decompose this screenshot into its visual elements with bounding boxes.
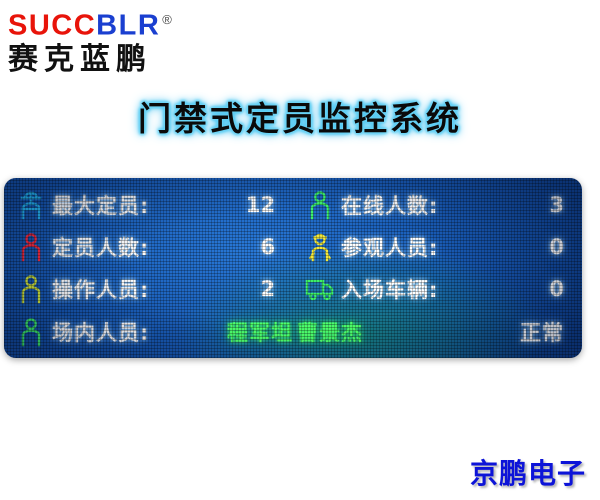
led-row-onsite-personnel: 场内人员: 程军坦 曹景杰 正常 [4,310,582,354]
led-label: 操作人员: [52,274,241,304]
logo-word-blr: BLR [96,10,160,42]
led-value: 2 [241,277,293,301]
led-onsite-names-and-status: 曹景杰 正常 [293,317,582,347]
led-label: 最大定员: [52,190,241,220]
led-value: 3 [530,193,582,217]
person-icon [4,274,52,304]
onsite-person-name: 曹景杰 [293,317,363,347]
logo-wordmark: SUCCBLR® [8,4,208,42]
truck-icon [293,276,341,302]
led-label: 在线人数: [341,190,530,220]
logo-word-succ: SUCC [8,10,96,42]
led-value: 0 [530,235,582,259]
led-label: 定员人数: [52,232,241,262]
footer-brand: 京鹏电子 [470,452,586,492]
person-icon [4,317,52,347]
person-cap-icon [4,190,52,220]
led-value: 0 [530,277,582,301]
onsite-person-name: 程军坦 [223,317,293,347]
company-logo: SUCCBLR® 赛克蓝鹏 [8,4,208,76]
led-label: 场内人员: [52,317,223,347]
led-row: 定员人数: 6 参观人员: 0 [4,226,582,268]
led-field-max-capacity: 最大定员: 12 [4,190,293,220]
led-field-online-count: 在线人数: 3 [293,190,582,220]
led-row: 操作人员: 2 入场车辆: 0 [4,268,582,310]
person-cap-icon [293,232,341,262]
led-field-operator-count: 操作人员: 2 [4,274,293,304]
led-field-vehicle-count: 入场车辆: 0 [293,274,582,304]
led-field-onsite-personnel: 场内人员: 程军坦 [4,317,293,347]
person-icon [293,190,341,220]
led-field-visitor-count: 参观人员: 0 [293,232,582,262]
led-label: 参观人员: [341,232,530,262]
led-value: 12 [241,193,293,217]
led-value: 6 [241,235,293,259]
registered-trademark-icon: ® [162,12,172,27]
led-field-assigned-count: 定员人数: 6 [4,232,293,262]
person-icon [4,232,52,262]
logo-chinese-name: 赛克蓝鹏 [8,43,208,77]
led-row: 最大定员: 12 在线人数: 3 [4,184,582,226]
onsite-names-group: 曹景杰 [293,317,520,347]
status-badge: 正常 [520,317,582,347]
page-title: 门禁式定员监控系统 [0,92,600,140]
led-display-panel: 最大定员: 12 在线人数: 3 [4,178,582,358]
led-label: 入场车辆: [341,274,530,304]
led-rows-container: 最大定员: 12 在线人数: 3 [4,184,582,354]
